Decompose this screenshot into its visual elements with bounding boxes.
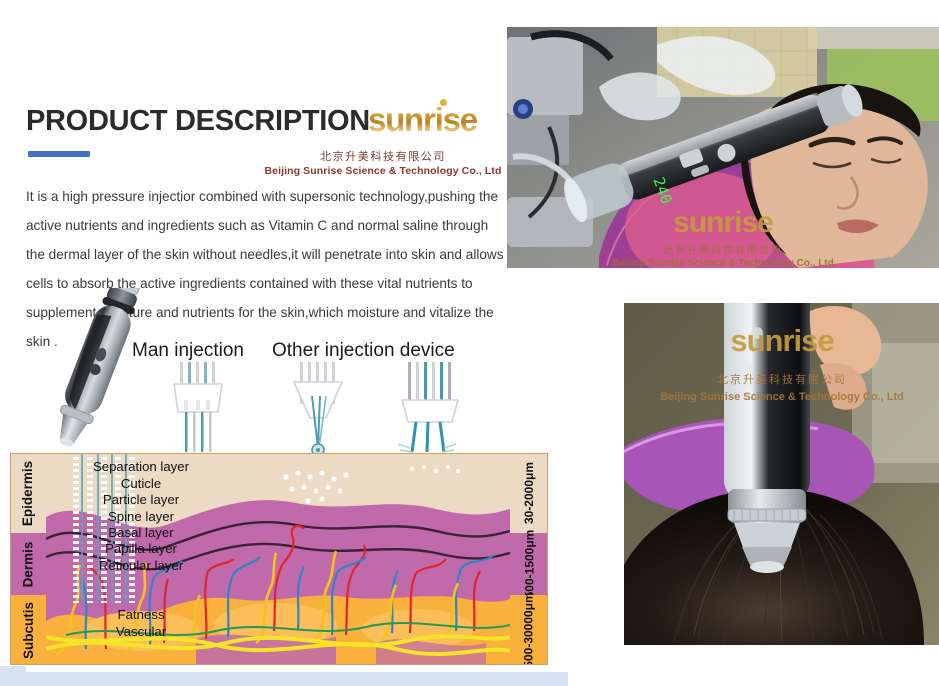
layer-group-dermis: Dermis bbox=[10, 533, 46, 595]
photo-facial-treatment: 240 sunrise 北京升美科技有限公司 Beijing Sunrise S… bbox=[507, 27, 939, 268]
layer-name: Vascular bbox=[46, 624, 236, 641]
bottom-accent-band bbox=[0, 672, 568, 686]
depth-epidermis: 30-2000μm bbox=[510, 453, 548, 533]
title-underline-bar bbox=[28, 151, 90, 157]
company-block: 北京升美科技有限公司 Beijing Sunrise Science & Tec… bbox=[258, 150, 508, 178]
layer-names-subcutis: Fatness Vascular bbox=[46, 607, 236, 640]
layer-group-column: Epidermis Dermis Subcutis bbox=[10, 453, 46, 665]
skin-cross-section-diagram: Epidermis Dermis Subcutis Separation lay… bbox=[10, 453, 548, 665]
depth-scale-column: 30-2000μm 500-1500μm 500-30000μm bbox=[510, 453, 548, 665]
depth-dermis: 500-1500μm bbox=[510, 533, 548, 595]
logo-dot-icon bbox=[440, 99, 447, 106]
handpiece-device-image bbox=[22, 288, 202, 463]
slide-canvas: PRODUCT DESCRIPTION sunrise 北京升美科技有限公司 B… bbox=[0, 0, 939, 686]
company-name-cn: 北京升美科技有限公司 bbox=[258, 150, 508, 164]
layer-name: Reticular layer bbox=[46, 558, 236, 575]
layer-group-epidermis: Epidermis bbox=[10, 453, 46, 533]
watermark-en-top: Beijing Sunrise Science & Technology Co.… bbox=[612, 258, 834, 268]
watermark-en-bottom: Beijing Sunrise Science & Technology Co.… bbox=[660, 391, 904, 403]
photo-facial-art: 240 sunrise 北京升美科技有限公司 Beijing Sunrise S… bbox=[507, 27, 939, 268]
photo-scalp-treatment: sunrise 北京升美科技有限公司 Beijing Sunrise Scien… bbox=[624, 303, 939, 645]
layer-name: Basal layer bbox=[46, 525, 236, 542]
watermark-cn-bottom: 北京升美科技有限公司 bbox=[717, 372, 847, 386]
watermark-cn-top: 北京升美科技有限公司 bbox=[663, 244, 783, 257]
layer-name: Spine layer bbox=[46, 509, 236, 526]
layer-name: Papilla layer bbox=[46, 541, 236, 558]
layer-names-epidermis: Separation layer Cuticle Particle layer … bbox=[46, 459, 236, 542]
watermark-logo-bottom: sunrise bbox=[730, 323, 834, 358]
company-name-en: Beijing Sunrise Science & Technology Co.… bbox=[258, 164, 508, 178]
layer-name: Fatness bbox=[46, 607, 236, 624]
sunrise-logo-text: sunrise bbox=[368, 101, 477, 138]
label-other-injection-device: Other injection device bbox=[272, 340, 455, 362]
layer-name: Cuticle bbox=[46, 476, 236, 493]
page-title-text: PRODUCT DESCRIPTION bbox=[26, 107, 370, 136]
layer-name: Particle layer bbox=[46, 492, 236, 509]
page-title: PRODUCT DESCRIPTION sunrise bbox=[26, 103, 477, 136]
depth-subcutis: 500-30000μm bbox=[510, 595, 548, 665]
layer-names-dermis: Papilla layer Reticular layer bbox=[46, 541, 236, 574]
bottom-accent-notch bbox=[0, 666, 26, 674]
watermark-logo-top: sunrise bbox=[673, 206, 773, 239]
sunrise-logo: sunrise bbox=[368, 103, 477, 136]
photo-scalp-art: sunrise 北京升美科技有限公司 Beijing Sunrise Scien… bbox=[624, 303, 939, 645]
layer-group-subcutis: Subcutis bbox=[10, 595, 46, 665]
